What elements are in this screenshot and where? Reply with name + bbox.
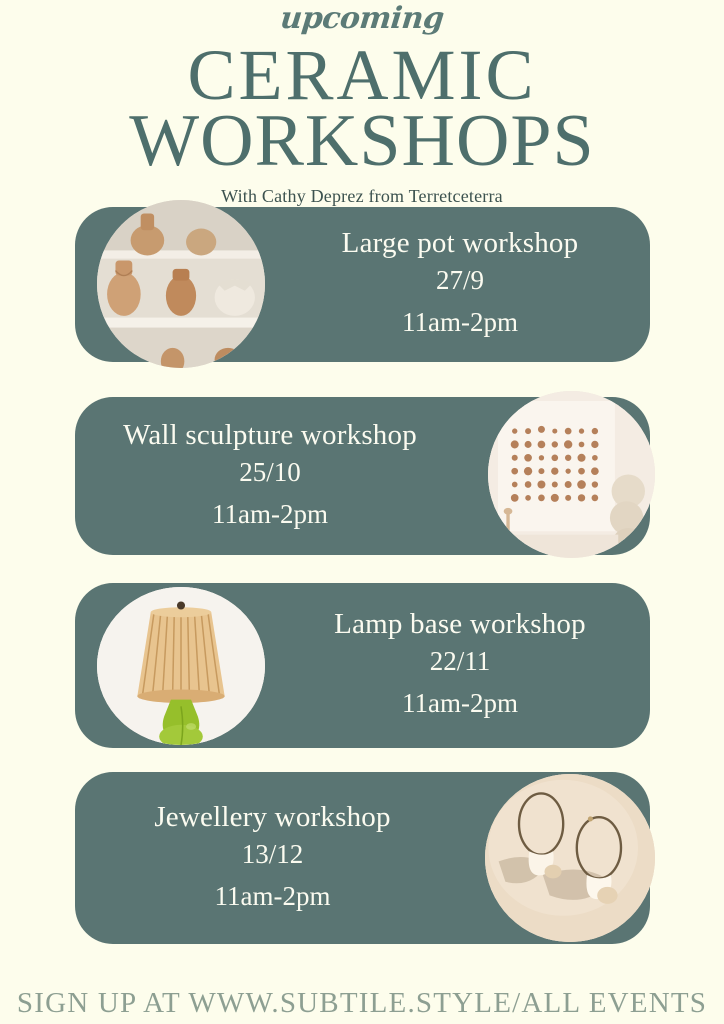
workshop-card-lamp-base[interactable]: Lamp base workshop 22/11 11am-2pm [75,583,650,748]
page-title: CERAMIC WORKSHOPS [0,42,724,176]
subtitle-presenter: With Cathy Deprez from Terretceterra [0,186,724,207]
title-line-ceramic: CERAMIC [0,42,724,109]
workshop-poster: upcoming CERAMIC WORKSHOPS With Cathy De… [0,0,724,1024]
workshop-title: Jewellery workshop [75,800,470,834]
rattan-lamp-with-green-ceramic-base-photo [97,587,265,745]
workshop-time: 11am-2pm [75,876,470,917]
shelf-of-ceramic-pots-photo [97,200,265,368]
workshop-card-jewellery[interactable]: Jewellery workshop 13/12 11am-2pm [75,772,650,944]
workshop-date: 25/10 [75,452,465,494]
workshop-time: 11am-2pm [270,683,650,724]
footer-signup-cta[interactable]: SIGN UP AT WWW.SUBTILE.STYLE/ALL EVENTS [0,987,724,1020]
workshop-time: 11am-2pm [270,302,650,343]
workshop-date: 22/11 [270,641,650,683]
workshop-card-wall-sculpture[interactable]: Wall sculpture workshop 25/10 11am-2pm [75,397,650,555]
wall-sculpture-grid-photo [488,391,655,558]
workshop-time: 11am-2pm [75,494,465,535]
workshop-date: 27/9 [270,260,650,302]
workshop-card-large-pot[interactable]: Large pot workshop 27/9 11am-2pm [75,207,650,362]
workshop-title: Large pot workshop [270,226,650,260]
title-line-workshops: WORKSHOPS [0,107,724,176]
workshop-date: 13/12 [75,834,470,876]
ceramic-hoop-earrings-photo [485,774,655,942]
kicker-upcoming: upcoming [0,2,724,36]
poster-header: upcoming CERAMIC WORKSHOPS With Cathy De… [0,0,724,207]
workshop-title: Wall sculpture workshop [75,418,465,452]
workshop-title: Lamp base workshop [270,607,650,641]
